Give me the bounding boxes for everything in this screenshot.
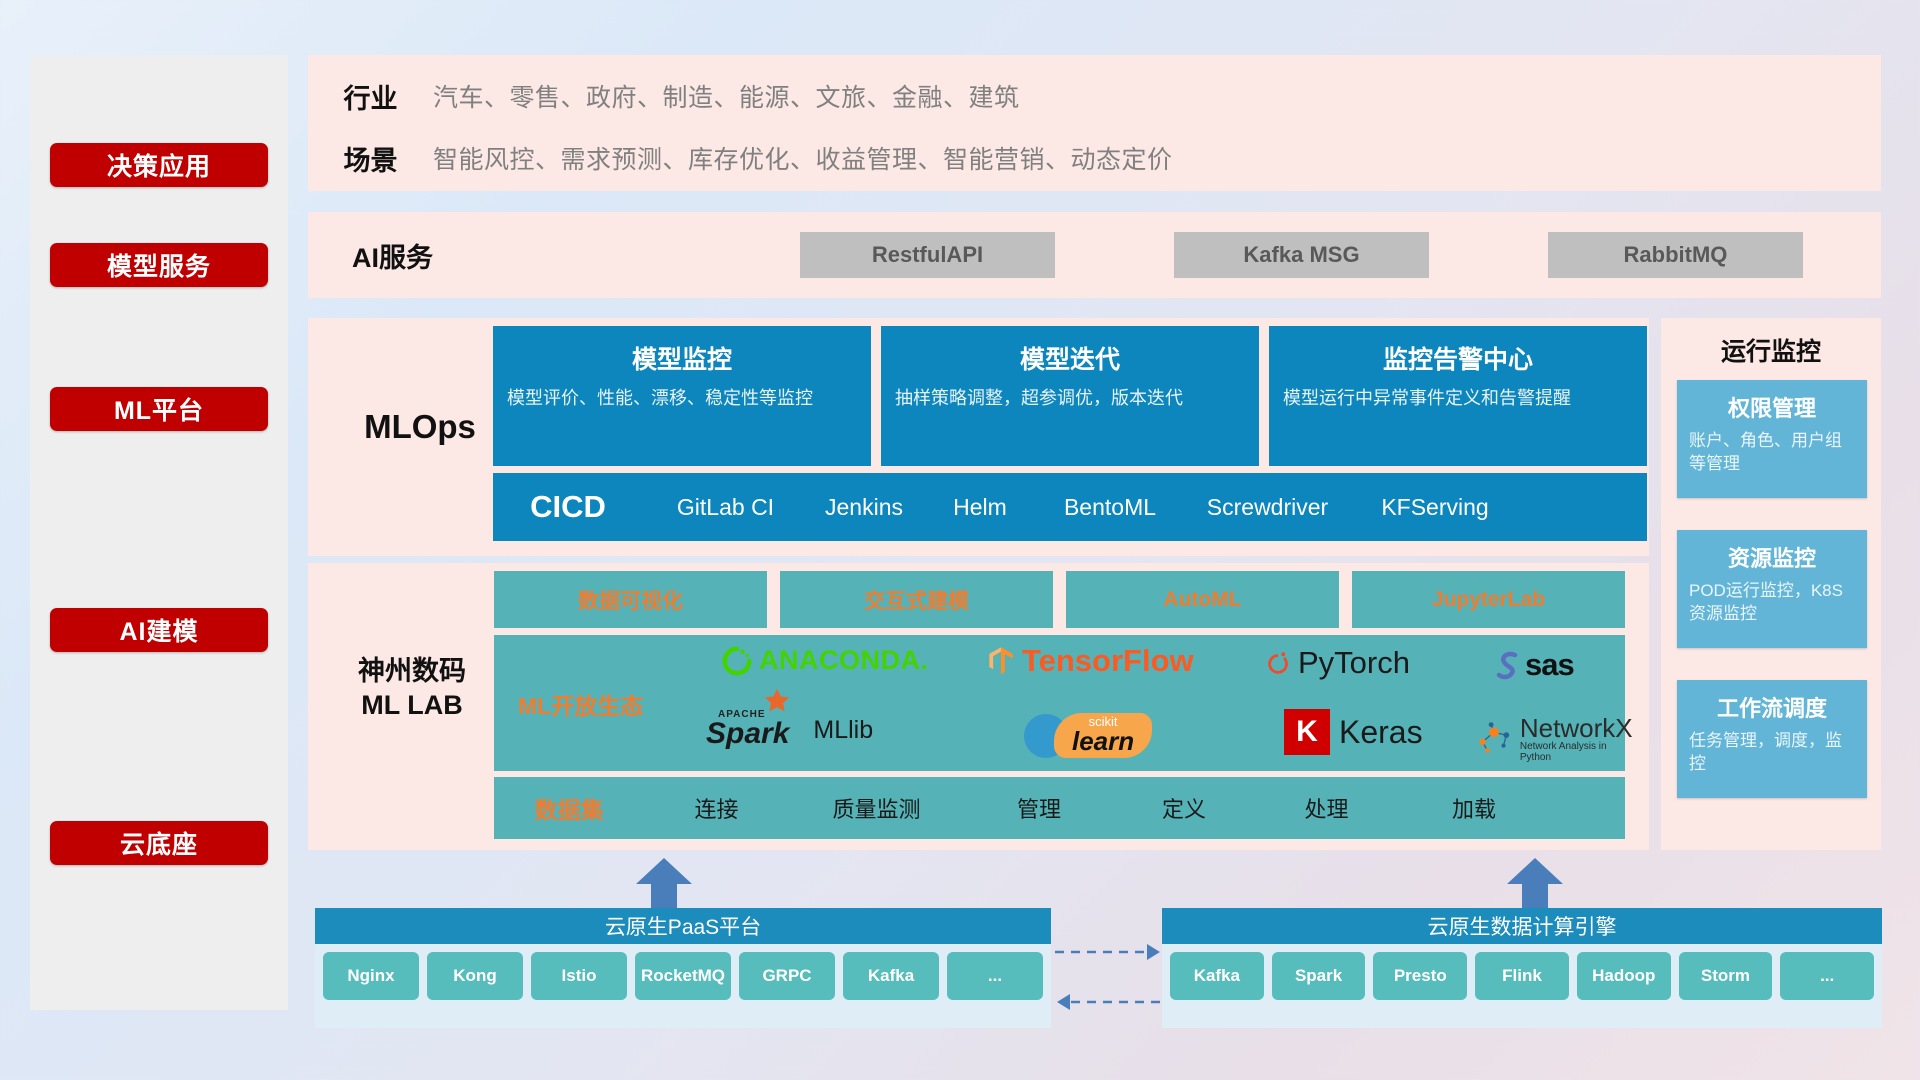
- cloud-chip-more[interactable]: ...: [1780, 952, 1874, 1000]
- cloud-chip-label: Storm: [1701, 967, 1750, 985]
- anaconda-mark-icon: [722, 646, 752, 676]
- spark-mllib-logo: APACHE Spark MLlib: [706, 709, 873, 747]
- dataset-item-label: 管理: [1017, 797, 1061, 822]
- rail-item-label: 模型服务: [107, 247, 211, 283]
- cloud-chip-label: Flink: [1502, 967, 1542, 985]
- cloud-chip-label: ...: [1820, 967, 1834, 985]
- mllib-logo-text: MLlib: [813, 716, 873, 745]
- cloud-paas-group: 云原生PaaS平台 Nginx Kong Istio RocketMQ GRPC…: [315, 908, 1051, 1028]
- networkx-logo: NetworkX Network Analysis in Python: [1474, 713, 1635, 763]
- mllab-label: 神州数码 ML LAB: [322, 655, 502, 723]
- ml-ecosystem-band: ML开放生态 ANACONDA. APACHE Spark MLlib: [494, 635, 1625, 771]
- pytorch-mark-icon: [1264, 648, 1292, 678]
- ai-service-label: AI服务: [330, 236, 455, 275]
- cloud-chip-label: GRPC: [762, 967, 811, 985]
- scenario-row-usecase: 场景 智能风控、需求预测、库存优化、收益管理、智能营销、动态定价: [308, 127, 1881, 189]
- cicd-item-label: Helm: [953, 494, 1007, 520]
- mllab-tile-data-viz[interactable]: 数据可视化: [494, 571, 767, 628]
- cicd-item-jenkins[interactable]: Jenkins: [808, 495, 920, 519]
- tensorflow-mark-icon: [984, 644, 1018, 678]
- cloud-chip-kafka[interactable]: Kafka: [843, 952, 939, 1000]
- mlops-card-title: 监控告警中心: [1269, 340, 1647, 376]
- networkx-logo-text: NetworkX: [1520, 713, 1635, 744]
- scenario-row-industry: 行业 汽车、零售、政府、制造、能源、文旅、金融、建筑: [308, 65, 1881, 127]
- cloud-chip-hadoop[interactable]: Hadoop: [1577, 952, 1671, 1000]
- ai-service-item-label: Kafka MSG: [1243, 242, 1359, 268]
- cicd-item-gitlab-ci[interactable]: GitLab CI: [643, 495, 808, 519]
- sas-mark-icon: [1494, 649, 1524, 681]
- spark-star-icon: [762, 687, 792, 717]
- cicd-item-bentoml[interactable]: BentoML: [1040, 495, 1180, 519]
- dataset-item-connect[interactable]: 连接: [644, 792, 789, 824]
- monitor-card-desc: POD运行监控，K8S资源监控: [1689, 580, 1855, 626]
- cicd-bar: CICD GitLab CI Jenkins Helm BentoML Scre…: [493, 473, 1647, 541]
- monitor-card-desc: 任务管理，调度，监控: [1689, 730, 1855, 776]
- dataset-item-process[interactable]: 处理: [1254, 792, 1399, 824]
- mlops-card-model-iteration[interactable]: 模型迭代 抽样策略调整，超参调优，版本迭代: [881, 326, 1259, 466]
- networkx-mark-icon: [1474, 718, 1516, 758]
- keras-logo-text: Keras: [1339, 714, 1423, 751]
- cloud-chip-rocketmq[interactable]: RocketMQ: [635, 952, 731, 1000]
- bidirectional-dashed-connector-icon: [1055, 940, 1165, 1020]
- ai-service-kafka-msg[interactable]: Kafka MSG: [1174, 232, 1429, 278]
- scenario-text: 汽车、零售、政府、制造、能源、文旅、金融、建筑: [433, 78, 1020, 114]
- up-arrow-data-engine-icon: [1505, 858, 1565, 910]
- cicd-item-label: BentoML: [1064, 494, 1156, 520]
- rail-item-decision-app[interactable]: 决策应用: [50, 143, 268, 187]
- sas-logo-text: sas: [1525, 647, 1574, 683]
- mllab-tile-interactive-modeling[interactable]: 交互式建模: [780, 571, 1053, 628]
- sas-logo: sas: [1494, 647, 1574, 683]
- runtime-monitor-title: 运行监控: [1661, 332, 1881, 368]
- cloud-data-engine-chip-row: Kafka Spark Presto Flink Hadoop Storm ..…: [1162, 944, 1882, 1008]
- monitor-card-title: 资源监控: [1677, 541, 1867, 573]
- cloud-chip-label: Kong: [453, 967, 496, 985]
- mlops-card-alert-center[interactable]: 监控告警中心 模型运行中异常事件定义和告警提醒: [1269, 326, 1647, 466]
- mllab-tile-label: JupyterLab: [1432, 588, 1545, 612]
- monitor-card-title: 权限管理: [1677, 391, 1867, 423]
- mlops-label: MLOps: [330, 408, 510, 446]
- cloud-chip-kong[interactable]: Kong: [427, 952, 523, 1000]
- learn-logo-text: learn: [1072, 728, 1134, 754]
- ai-service-restfulapi[interactable]: RestfulAPI: [800, 232, 1055, 278]
- dataset-item-label: 处理: [1304, 797, 1348, 822]
- cicd-item-label: Jenkins: [825, 494, 903, 520]
- dataset-item-manage[interactable]: 管理: [964, 792, 1114, 824]
- scenario-text: 智能风控、需求预测、库存优化、收益管理、智能营销、动态定价: [433, 140, 1173, 176]
- monitor-card-resource[interactable]: 资源监控 POD运行监控，K8S资源监控: [1677, 530, 1867, 648]
- tensorflow-logo: TensorFlow: [984, 643, 1194, 679]
- cicd-item-screwdriver[interactable]: Screwdriver: [1180, 495, 1355, 519]
- cloud-chip-spark[interactable]: Spark: [1272, 952, 1366, 1000]
- dataset-band: 数据集 连接 质量监测 管理 定义 处理 加载: [494, 777, 1625, 839]
- cloud-chip-kafka[interactable]: Kafka: [1170, 952, 1264, 1000]
- rail-item-ai-modeling[interactable]: AI建模: [50, 608, 268, 652]
- cloud-paas-chip-row: Nginx Kong Istio RocketMQ GRPC Kafka ...: [315, 944, 1051, 1008]
- mlops-card-desc: 模型评价、性能、漂移、稳定性等监控: [507, 386, 857, 411]
- cloud-data-engine-group: 云原生数据计算引擎 Kafka Spark Presto Flink Hadoo…: [1162, 908, 1882, 1028]
- cicd-item-kfserving[interactable]: KFServing: [1355, 495, 1515, 519]
- monitor-card-workflow[interactable]: 工作流调度 任务管理，调度，监控: [1677, 680, 1867, 798]
- mllab-panel: 神州数码 ML LAB 数据可视化 交互式建模 AutoML JupyterLa…: [308, 563, 1649, 850]
- cicd-item-label: KFServing: [1381, 494, 1488, 520]
- tensorflow-logo-text: TensorFlow: [1022, 643, 1194, 679]
- mlops-card-desc: 模型运行中异常事件定义和告警提醒: [1283, 386, 1633, 411]
- mlops-card-model-monitoring[interactable]: 模型监控 模型评价、性能、漂移、稳定性等监控: [493, 326, 871, 466]
- cloud-paas-title: 云原生PaaS平台: [315, 908, 1051, 944]
- cloud-chip-istio[interactable]: Istio: [531, 952, 627, 1000]
- scenario-label: 场景: [308, 139, 433, 178]
- rail-item-label: AI建模: [119, 612, 198, 648]
- rail-item-label: 云底座: [120, 825, 198, 861]
- cloud-chip-label: Presto: [1394, 967, 1447, 985]
- monitor-card-desc: 账户、角色、用户组等管理: [1689, 430, 1855, 476]
- pytorch-logo: PyTorch: [1264, 645, 1410, 681]
- keras-badge-icon: K: [1284, 709, 1330, 755]
- mllab-tile-label: 交互式建模: [864, 585, 969, 615]
- scenario-panel: 行业 汽车、零售、政府、制造、能源、文旅、金融、建筑 场景 智能风控、需求预测、…: [308, 55, 1881, 191]
- cloud-chip-grpc[interactable]: GRPC: [739, 952, 835, 1000]
- dataset-item-quality[interactable]: 质量监测: [789, 792, 964, 824]
- monitor-card-title: 工作流调度: [1677, 691, 1867, 723]
- cloud-chip-label: Nginx: [347, 967, 394, 985]
- up-arrow-paas-icon: [634, 858, 694, 910]
- dataset-item-label: 加载: [1452, 797, 1496, 822]
- rail-item-cloud-base[interactable]: 云底座: [50, 821, 268, 865]
- cloud-chip-flink[interactable]: Flink: [1475, 952, 1569, 1000]
- mlops-panel: MLOps 模型监控 模型评价、性能、漂移、稳定性等监控 模型迭代 抽样策略调整…: [308, 318, 1649, 556]
- mllab-tile-jupyterlab[interactable]: JupyterLab: [1352, 571, 1625, 628]
- dataset-item-label: 连接: [694, 797, 738, 822]
- mlops-card-title: 模型迭代: [881, 340, 1259, 376]
- mlops-card-title: 模型监控: [493, 340, 871, 376]
- mllab-tile-automl[interactable]: AutoML: [1066, 571, 1339, 628]
- ai-service-item-label: RestfulAPI: [872, 242, 983, 268]
- cloud-chip-nginx[interactable]: Nginx: [323, 952, 419, 1000]
- scikit-learn-logo: scikit learn: [1024, 713, 1152, 758]
- rail-item-label: ML平台: [114, 391, 204, 427]
- cicd-item-label: GitLab CI: [677, 494, 774, 520]
- ml-ecosystem-label: ML开放生态: [518, 687, 643, 721]
- cloud-data-engine-title: 云原生数据计算引擎: [1162, 908, 1882, 944]
- cloud-chip-storm[interactable]: Storm: [1679, 952, 1773, 1000]
- dataset-key-label: 数据集: [494, 791, 644, 825]
- mllab-tile-label: AutoML: [1163, 588, 1241, 612]
- cloud-chip-label: Kafka: [1194, 967, 1240, 985]
- mllab-label-line1: 神州数码: [322, 655, 502, 689]
- cicd-item-label: Screwdriver: [1207, 494, 1328, 520]
- rail-item-model-service[interactable]: 模型服务: [50, 243, 268, 287]
- cloud-chip-more[interactable]: ...: [947, 952, 1043, 1000]
- stack-layer-rail: 决策应用 模型服务 ML平台 AI建模 云底座: [30, 55, 288, 1010]
- keras-logo: K Keras: [1284, 709, 1423, 755]
- ai-service-item-label: RabbitMQ: [1624, 242, 1728, 268]
- cicd-title: CICD: [493, 489, 643, 525]
- cloud-chip-label: ...: [988, 967, 1002, 985]
- dataset-item-load[interactable]: 加载: [1399, 792, 1549, 824]
- mllab-label-line2: ML LAB: [322, 689, 502, 723]
- cloud-chip-label: Hadoop: [1592, 967, 1655, 985]
- cloud-chip-presto[interactable]: Presto: [1373, 952, 1467, 1000]
- cloud-chip-label: RocketMQ: [641, 967, 725, 985]
- spark-logo-text: Spark: [706, 720, 789, 747]
- networkx-logo-tagline: Network Analysis in Python: [1520, 741, 1635, 763]
- cicd-item-helm[interactable]: Helm: [920, 495, 1040, 519]
- dataset-item-label: 质量监测: [832, 797, 920, 822]
- rail-item-ml-platform[interactable]: ML平台: [50, 387, 268, 431]
- anaconda-logo: ANACONDA.: [722, 645, 929, 676]
- cloud-chip-label: Kafka: [868, 967, 914, 985]
- scikit-orange-blob-icon: scikit learn: [1054, 713, 1152, 758]
- dataset-item-label: 定义: [1162, 797, 1206, 822]
- rail-item-label: 决策应用: [107, 147, 211, 183]
- mlops-card-desc: 抽样策略调整，超参调优，版本迭代: [895, 386, 1245, 411]
- scenario-label: 行业: [308, 77, 433, 116]
- ai-service-rabbitmq[interactable]: RabbitMQ: [1548, 232, 1803, 278]
- ai-service-panel: AI服务 RestfulAPI Kafka MSG RabbitMQ Web服务: [308, 212, 1881, 298]
- cloud-chip-label: Spark: [1295, 967, 1342, 985]
- anaconda-logo-text: ANACONDA.: [759, 645, 929, 676]
- pytorch-logo-text: PyTorch: [1298, 645, 1410, 681]
- cloud-chip-label: Istio: [562, 967, 597, 985]
- dataset-item-define[interactable]: 定义: [1114, 792, 1254, 824]
- mllab-tile-label: 数据可视化: [578, 585, 683, 615]
- monitor-card-permission[interactable]: 权限管理 账户、角色、用户组等管理: [1677, 380, 1867, 498]
- runtime-monitor-panel: 运行监控 权限管理 账户、角色、用户组等管理 资源监控 POD运行监控，K8S资…: [1661, 318, 1881, 850]
